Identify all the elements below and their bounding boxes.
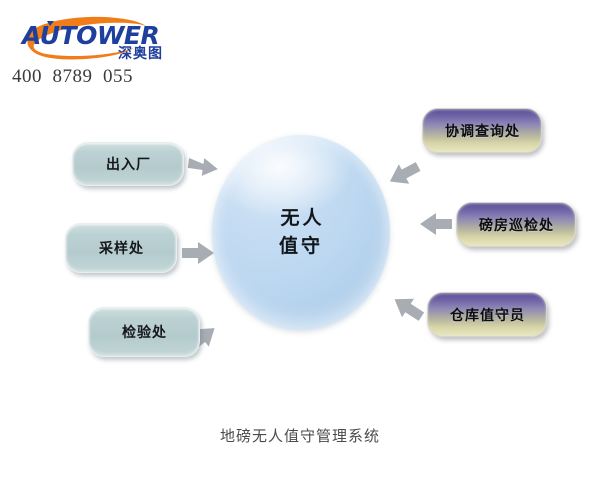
center-node-unattended[interactable]: 无人 值守 (212, 135, 390, 330)
node-label: 采样处 (98, 238, 144, 258)
node-inspection-station[interactable]: 检验处 (88, 307, 200, 357)
node-sampling-station[interactable]: 采样处 (65, 223, 177, 273)
node-label: 仓库值守员 (449, 305, 525, 325)
node-label: 检验处 (121, 322, 167, 342)
unattended-weighbridge-diagram: 无人 值守 出入厂 采样处 检验处 协调查询处 磅房巡检处 仓库值守员 (0, 95, 600, 395)
arrow-right-middle (420, 213, 452, 235)
diagram-caption: 地磅无人值守管理系统 (0, 425, 600, 446)
arrow-left-middle (182, 242, 214, 264)
node-label: 磅房巡检处 (478, 215, 554, 235)
arrow-right-top (385, 157, 424, 191)
node-entry-exit-plant[interactable]: 出入厂 (72, 142, 184, 186)
node-label: 协调查询处 (444, 121, 520, 141)
node-warehouse-attendant[interactable]: 仓库值守员 (427, 292, 547, 337)
autower-logo-icon: AUTOWER 深奥图 (14, 12, 194, 62)
logo-wordmark-cn: 深奥图 (118, 45, 163, 62)
node-label: 出入厂 (105, 154, 151, 174)
node-coordination-inquiry[interactable]: 协调查询处 (422, 108, 542, 153)
hotline-phone-number: 400 8789 055 (12, 66, 133, 88)
arrow-left-top (187, 156, 219, 178)
brand-logo: AUTOWER 深奥图 (14, 12, 194, 62)
center-node-label: 无人 值守 (277, 205, 324, 260)
arrow-right-bottom (389, 290, 428, 326)
node-weighbridge-patrol[interactable]: 磅房巡检处 (456, 202, 576, 247)
